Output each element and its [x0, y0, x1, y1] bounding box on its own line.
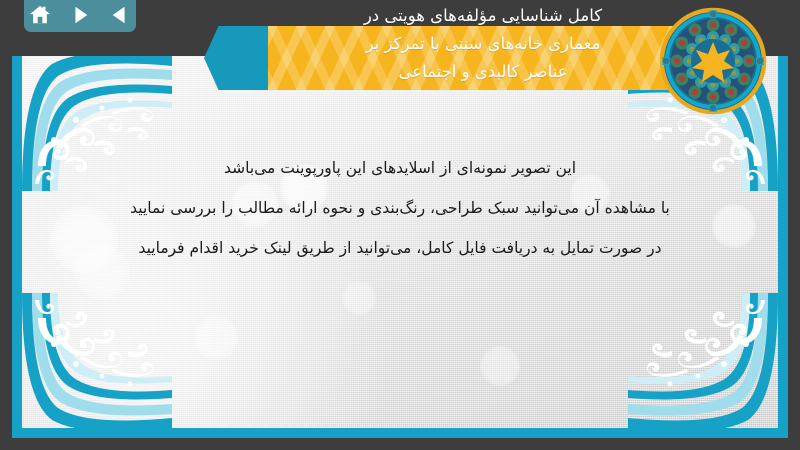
bokeh-circle	[280, 164, 328, 212]
islamic-mandala-medallion-icon	[658, 6, 768, 116]
body-line: در صورت تمایل به دریافت فایل کامل، می‌تو…	[22, 228, 778, 268]
bokeh-circle	[342, 281, 376, 315]
bokeh-circle	[480, 346, 520, 386]
banner-weave-pattern	[268, 26, 720, 90]
body-line: با مشاهده آن می‌توانید سبک طراحی، رنگ‌بن…	[22, 188, 778, 228]
bokeh-circle	[74, 244, 130, 300]
home-button[interactable]	[27, 2, 53, 28]
bokeh-circle	[194, 316, 238, 360]
triangle-left-icon	[109, 4, 131, 26]
slide-canvas: این تصویر نمونه‌ای از اسلایدهای این پاور…	[0, 0, 800, 450]
home-icon	[29, 4, 51, 26]
filigree-corner-ornament-icon	[22, 56, 172, 191]
bokeh-circle	[50, 206, 118, 274]
triangle-right-icon	[69, 4, 91, 26]
previous-slide-button[interactable]	[107, 2, 133, 28]
slide-nav-toolbar[interactable]	[24, 0, 136, 32]
next-slide-button[interactable]	[67, 2, 93, 28]
bokeh-circle	[712, 204, 756, 248]
slide-body-text: این تصویر نمونه‌ای از اسلایدهای این پاور…	[22, 148, 778, 268]
bokeh-circle	[232, 181, 278, 227]
title-banner	[268, 26, 720, 90]
filigree-corner-ornament-icon	[22, 293, 172, 428]
bokeh-circle	[570, 174, 610, 214]
body-line: این تصویر نمونه‌ای از اسلایدهای این پاور…	[22, 148, 778, 188]
filigree-corner-ornament-icon	[628, 293, 778, 428]
